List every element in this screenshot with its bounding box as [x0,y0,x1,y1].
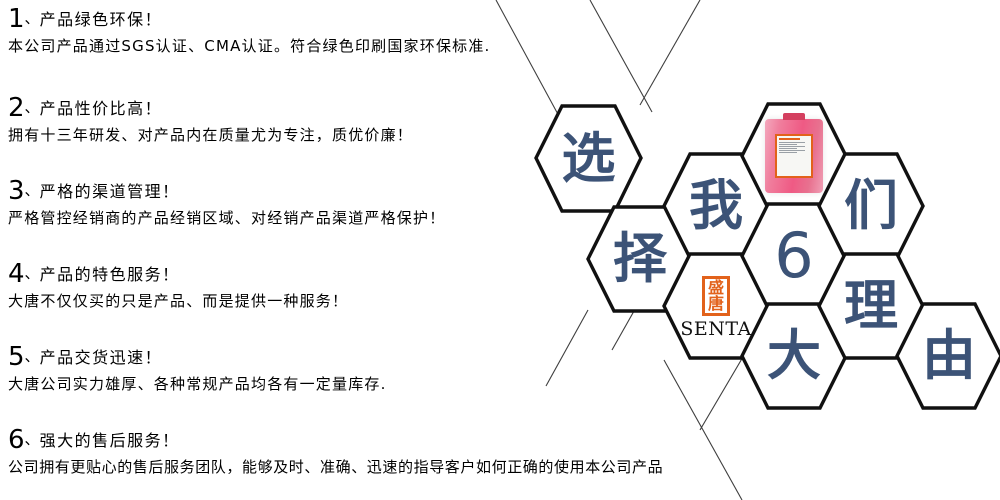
label-line [779,148,797,149]
hex-glyph: 理 [844,279,898,333]
brand-wordmark: SENTA [680,318,751,340]
label-line [779,150,805,151]
hex-glyph: 择 [613,232,667,286]
hex-glyph: 6 [774,225,813,287]
label-line [779,142,805,143]
label-line [779,152,797,153]
hex-cell-xuan[interactable]: 选 [536,106,641,211]
hex-glyph: 大 [767,329,821,383]
poster-canvas: 1、产品绿色环保！ 本公司产品通过SGS认证、CMA认证。符合绿色印刷国家环保标… [0,0,1000,500]
hexagon-cluster: 选 择 我 们 6 大 理 由 盛 唐 [0,0,1000,500]
seal-char-bottom: 唐 [708,296,724,312]
hex-glyph: 选 [562,132,616,186]
product-drum-icon [765,119,823,193]
product-label [775,134,813,178]
brand-logo: 盛 唐 SENTA [680,276,751,340]
hex-cell-brand-logo[interactable]: 盛 唐 SENTA [664,254,768,358]
hex-glyph: 我 [689,179,743,233]
seal-icon: 盛 唐 [702,276,730,316]
label-bar [779,138,800,140]
hex-glyph: 由 [922,329,976,383]
hex-cell-product-photo[interactable] [742,104,846,208]
hex-cell-you[interactable]: 由 [897,304,1000,408]
hex-glyph: 们 [844,179,898,233]
label-line [779,146,805,147]
label-line [779,144,797,145]
